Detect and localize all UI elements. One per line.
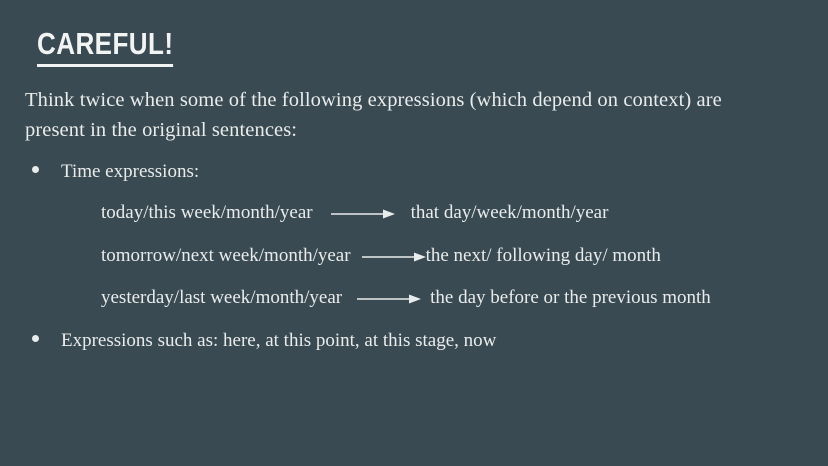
list-item-label: Time expressions: [61, 159, 199, 185]
mapping-target-text: the next/ following day/ month [426, 243, 661, 269]
page-title-wrapper: CAREFUL! [37, 28, 199, 67]
intro-paragraph: Think twice when some of the following e… [25, 85, 785, 145]
mapping-target-text: that day/week/month/year [411, 200, 609, 226]
bullet-dot-icon [32, 335, 39, 342]
slide-canvas: CAREFUL! Think twice when some of the fo… [0, 0, 828, 466]
list-item: Time expressions: [32, 159, 199, 185]
mapping-row: today/this week/month/year that day/week… [101, 200, 608, 226]
list-item: Expressions such as: here, at this point… [32, 328, 496, 354]
mapping-source-text: tomorrow/next week/month/year [101, 243, 351, 269]
page-title: CAREFUL! [37, 28, 173, 67]
right-arrow-icon [362, 251, 426, 263]
mapping-source-text: today/this week/month/year [101, 200, 313, 226]
mapping-source-text: yesterday/last week/month/year [101, 285, 342, 311]
right-arrow-icon [357, 293, 421, 305]
right-arrow-icon [331, 208, 395, 220]
mapping-row: yesterday/last week/month/year the day b… [101, 285, 711, 311]
bullet-dot-icon [32, 166, 39, 173]
list-item-label: Expressions such as: here, at this point… [61, 328, 496, 354]
mapping-row: tomorrow/next week/month/year the next/ … [101, 243, 661, 269]
mapping-target-text: the day before or the previous month [430, 285, 711, 311]
